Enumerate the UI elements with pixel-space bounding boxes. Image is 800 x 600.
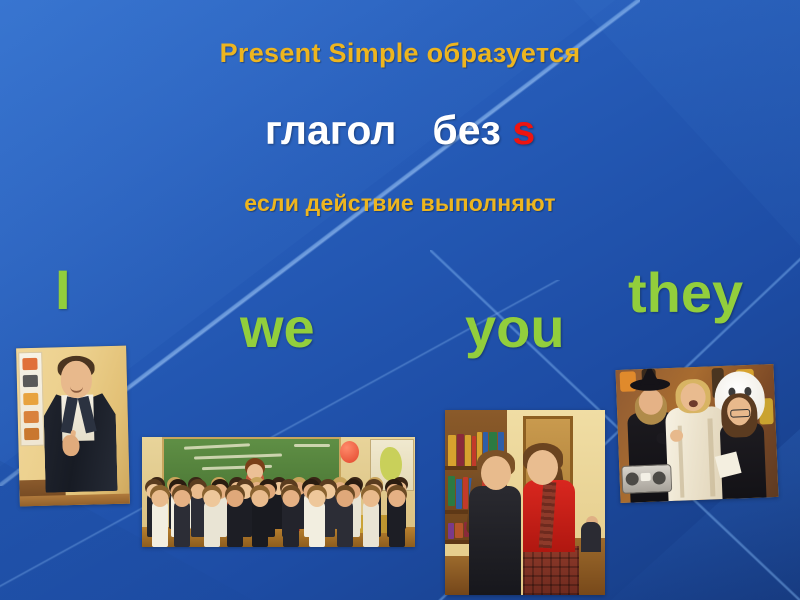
- formula-without: без: [432, 107, 501, 153]
- floor: [20, 494, 130, 507]
- photo-boy-pointing-at-himself: [16, 346, 130, 507]
- student-body: [389, 501, 405, 547]
- student-body: [309, 501, 325, 547]
- student-head: [362, 490, 379, 507]
- book: [456, 479, 463, 509]
- student-body: [152, 501, 168, 547]
- book: [448, 476, 455, 506]
- student-head: [336, 490, 353, 507]
- student: [152, 484, 168, 547]
- pronoun-i: I: [55, 262, 71, 318]
- formula-line: глаголбез s: [0, 110, 800, 151]
- photo-you-scene: [445, 410, 605, 595]
- book: [455, 523, 463, 538]
- girl-right-plaid-skirt: [523, 546, 579, 595]
- photo-class-group: [142, 437, 415, 547]
- pronoun-we: we: [240, 300, 315, 356]
- student-head: [204, 490, 221, 507]
- student-body: [227, 501, 243, 547]
- photo-halloween-trio: [616, 364, 779, 503]
- boombox-display: [640, 473, 650, 481]
- student: [252, 484, 268, 547]
- boy-hand: [62, 435, 80, 456]
- student-body: [252, 501, 268, 547]
- student-body: [204, 501, 220, 547]
- student-body: [174, 501, 190, 547]
- student-body: [191, 493, 205, 537]
- photo-two-girls-talking: [445, 410, 605, 595]
- girl-right-head: [527, 450, 558, 485]
- student-body: [337, 501, 353, 547]
- formula-verb: глагол: [265, 107, 397, 153]
- student-head: [152, 490, 169, 507]
- photo-we-scene: [142, 437, 415, 547]
- student-body: [363, 501, 379, 547]
- pronoun-you: you: [465, 300, 565, 356]
- student-head: [226, 490, 243, 507]
- pronoun-they: they: [628, 265, 743, 321]
- chalk-writing: [294, 444, 330, 447]
- student: [204, 484, 220, 547]
- student: [227, 484, 243, 547]
- student: [363, 484, 379, 547]
- student: [283, 484, 299, 547]
- student: [309, 484, 325, 547]
- book: [472, 436, 477, 470]
- red-balloon: [340, 441, 359, 463]
- photo-i-scene: [16, 346, 130, 507]
- student-head: [389, 490, 406, 507]
- student-body: [283, 501, 299, 547]
- photo-they-scene: [616, 364, 779, 503]
- girl-left-head: [481, 456, 511, 490]
- student: [389, 484, 405, 547]
- student-head: [282, 490, 299, 507]
- white-robe-costume: [665, 406, 729, 501]
- book: [463, 477, 467, 509]
- student: [174, 484, 190, 547]
- condition-line: если действие выполняют: [0, 192, 800, 215]
- wall-poster: [18, 352, 44, 447]
- student-head: [252, 490, 269, 507]
- book: [457, 434, 465, 466]
- student: [337, 484, 353, 547]
- formula-ending-s: s: [512, 107, 535, 153]
- third-girl-glasses: [730, 409, 750, 418]
- presentation-slide: Present Simple образуется глаголбез s ес…: [0, 0, 800, 600]
- book: [448, 523, 454, 539]
- student: [191, 478, 205, 537]
- student-head: [173, 490, 190, 507]
- background-person: [581, 522, 601, 552]
- book: [448, 435, 456, 468]
- slide-title: Present Simple образуется: [0, 40, 800, 67]
- book: [465, 435, 470, 467]
- student-head: [309, 490, 326, 507]
- girl-left-body: [469, 486, 521, 595]
